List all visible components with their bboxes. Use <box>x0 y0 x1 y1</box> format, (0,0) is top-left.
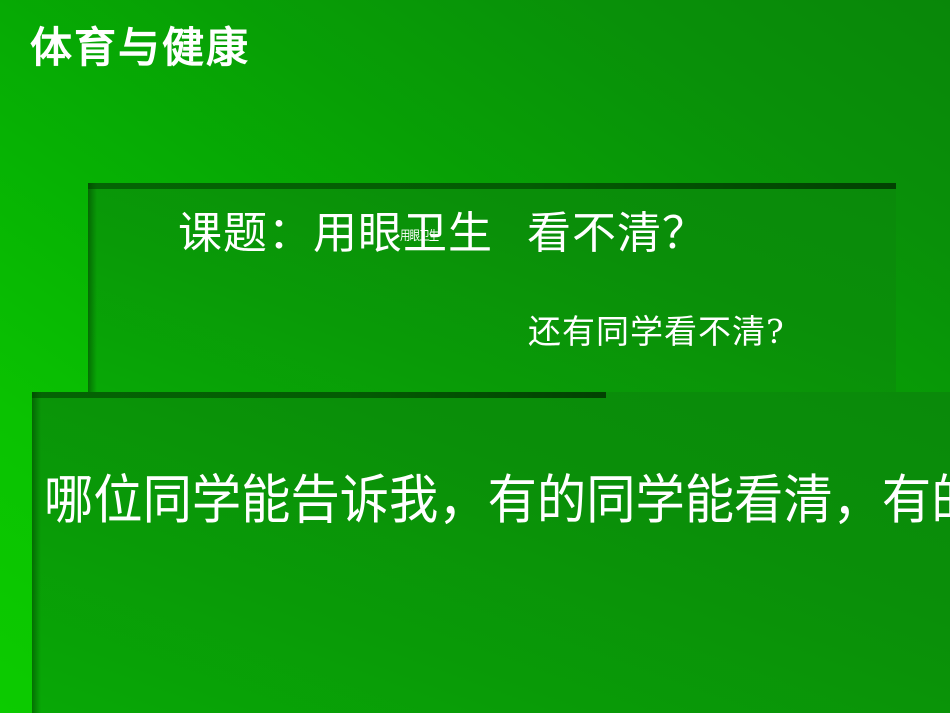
panel-top-edge-shadow <box>88 183 896 189</box>
panel-background <box>32 392 950 713</box>
main-question-text: 哪位同学能告诉我，有的同学能看清，有的同学看不清呢？ <box>44 468 950 534</box>
panel-top-edge-shadow <box>32 392 606 398</box>
content-panel-top: 课题：用眼卫生看不清？ 用眼卫生 还有同学看不清? <box>88 183 896 395</box>
content-panel-bottom: 哪位同学能告诉我，有的同学能看清，有的同学看不清呢？ <box>32 392 950 713</box>
presentation-slide: 体育与健康 课题：用眼卫生看不清？ 用眼卫生 还有同学看不清? 哪位同学能告诉我… <box>0 0 950 713</box>
panel-left-edge-shadow <box>88 183 97 395</box>
overlay-watermark-text: 用眼卫生 <box>400 229 438 245</box>
topic-question: 看不清？ <box>527 208 707 259</box>
topic-label: 课题：用眼卫生 <box>178 208 493 259</box>
topic-heading: 课题：用眼卫生看不清？ <box>178 205 707 263</box>
page-title: 体育与健康 <box>30 20 250 76</box>
followup-question-text: 还有同学看不清? <box>528 311 785 353</box>
panel-left-edge-shadow <box>32 392 41 713</box>
